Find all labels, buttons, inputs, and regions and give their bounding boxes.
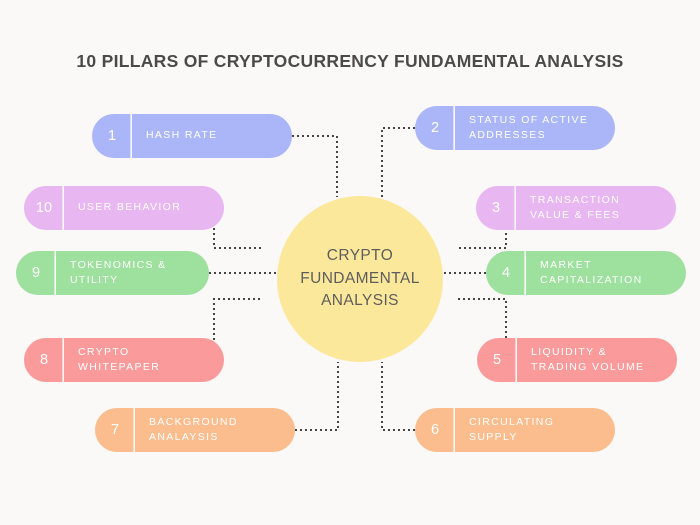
pillar-number-4: 4 [486, 251, 526, 295]
pillar-item-2[interactable]: 2 STATUS OF ACTIVE ADDRESSES [415, 106, 615, 150]
connector-6 [382, 362, 415, 430]
page-title: 10 PILLARS OF CRYPTOCURRENCY FUNDAMENTAL… [0, 51, 700, 72]
pillar-item-1[interactable]: 1 HASH RATE [92, 114, 292, 158]
pillar-label-2: STATUS OF ACTIVE ADDRESSES [455, 113, 615, 143]
pillar-item-9[interactable]: 9 TOKENOMICS & UTILITY [16, 251, 209, 295]
pillar-item-8[interactable]: 8 CRYPTO WHITEPAPER [24, 338, 224, 382]
pillar-item-5[interactable]: 5 LIQUIDITY & TRADING VOLUME [477, 338, 677, 382]
pillar-label-9: TOKENOMICS & UTILITY [56, 258, 209, 288]
pillar-label-6: CIRCULATING SUPPLY [455, 415, 615, 445]
center-node: CRYPTO FUNDAMENTAL ANALYSIS [277, 196, 443, 362]
pillar-number-9: 9 [16, 251, 56, 295]
pillar-item-7[interactable]: 7 BACKGROUND ANALAYSIS [95, 408, 295, 452]
connector-2 [382, 128, 415, 197]
pillar-number-6: 6 [415, 408, 455, 452]
pillar-label-1: HASH RATE [132, 128, 292, 143]
pillar-label-5: LIQUIDITY & TRADING VOLUME [517, 345, 677, 375]
pillar-label-7: BACKGROUND ANALAYSIS [135, 415, 295, 445]
pillar-item-10[interactable]: 10 USER BEHAVIOR [24, 186, 224, 230]
pillar-number-5: 5 [477, 338, 517, 382]
pillar-label-10: USER BEHAVIOR [64, 200, 224, 215]
diagram-canvas: 10 PILLARS OF CRYPTOCURRENCY FUNDAMENTAL… [0, 0, 700, 525]
pillar-number-1: 1 [92, 114, 132, 158]
pillar-label-8: CRYPTO WHITEPAPER [64, 345, 224, 375]
pillar-label-3: TRANSACTION VALUE & FEES [516, 193, 676, 223]
connector-7 [295, 362, 338, 430]
pillar-item-4[interactable]: 4 MARKET CAPITALIZATION [486, 251, 686, 295]
pillar-item-6[interactable]: 6 CIRCULATING SUPPLY [415, 408, 615, 452]
pillar-number-10: 10 [24, 186, 64, 230]
pillar-number-8: 8 [24, 338, 64, 382]
pillar-label-4: MARKET CAPITALIZATION [526, 258, 686, 288]
pillar-number-7: 7 [95, 408, 135, 452]
connector-1 [292, 136, 337, 197]
pillar-number-3: 3 [476, 186, 516, 230]
connector-5 [456, 299, 506, 338]
center-node-label: CRYPTO FUNDAMENTAL ANALYSIS [277, 245, 443, 312]
pillar-item-3[interactable]: 3 TRANSACTION VALUE & FEES [476, 186, 676, 230]
pillar-number-2: 2 [415, 106, 455, 150]
